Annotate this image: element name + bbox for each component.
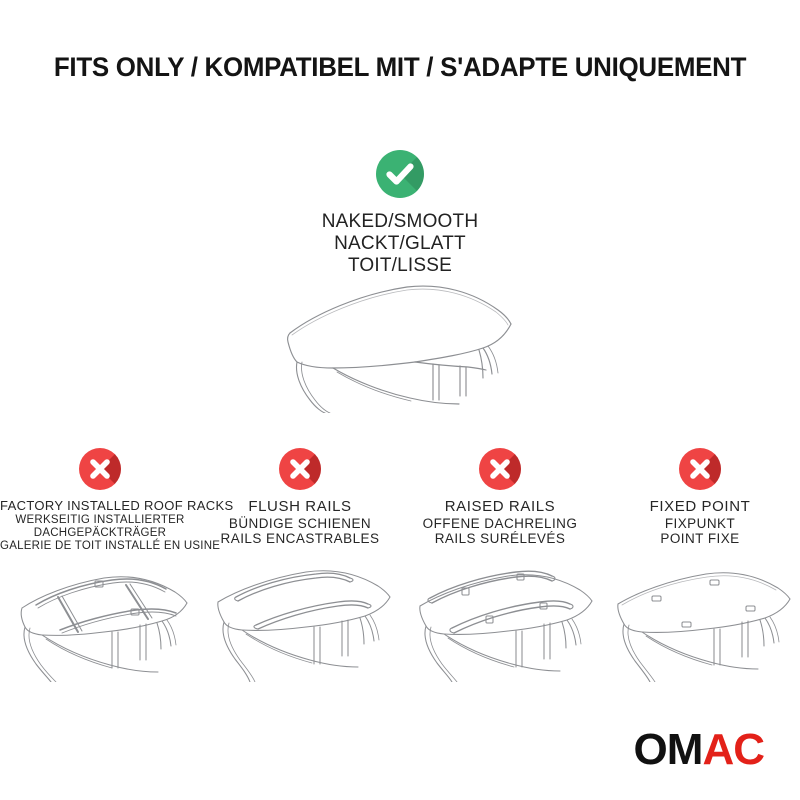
car-roof-naked-smooth-illustration	[255, 278, 555, 413]
label-de-1: WERKSEITIG INSTALLIERTER	[0, 514, 200, 527]
not-allowed-item-fixed-point: FIXED POINT FIXPUNKT POINT FIXE	[600, 448, 800, 553]
label-fr: POINT FIXE	[600, 531, 800, 546]
header: FITS ONLY / KOMPATIBEL MIT / S'ADAPTE UN…	[0, 52, 800, 83]
item-labels: FLUSH RAILS BÜNDIGE SCHIENEN RAILS ENCAS…	[200, 499, 400, 546]
label-en: FACTORY INSTALLED ROOF RACKS	[0, 499, 200, 514]
not-allowed-illustrations	[0, 552, 800, 682]
cross-circle-icon	[279, 448, 321, 490]
label-en: FLUSH RAILS	[200, 499, 400, 516]
car-roof-fixed-point-illustration	[600, 552, 800, 682]
item-labels: RAISED RAILS OFFENE DACHRELING RAILS SUR…	[400, 499, 600, 546]
label-de-2: DACHGEPÄCKTRÄGER	[0, 527, 200, 540]
allowed-label-fr: TOIT/LISSE	[250, 255, 550, 277]
car-roof-factory-rack-illustration	[0, 552, 200, 682]
logo-text-dark: OM	[634, 725, 703, 774]
label-de: BÜNDIGE SCHIENEN	[200, 516, 400, 531]
item-labels: FIXED POINT FIXPUNKT POINT FIXE	[600, 499, 800, 546]
check-circle-icon	[376, 150, 424, 198]
label-en: RAISED RAILS	[400, 499, 600, 516]
not-allowed-item-raised-rails: RAISED RAILS OFFENE DACHRELING RAILS SUR…	[400, 448, 600, 553]
label-en: FIXED POINT	[600, 499, 800, 516]
allowed-roof-labels: NAKED/SMOOTH NACKT/GLATT TOIT/LISSE	[250, 211, 550, 277]
not-allowed-item-flush-rails: FLUSH RAILS BÜNDIGE SCHIENEN RAILS ENCAS…	[200, 448, 400, 553]
item-labels: FACTORY INSTALLED ROOF RACKS WERKSEITIG …	[0, 499, 200, 553]
allowed-roof-type: NAKED/SMOOTH NACKT/GLATT TOIT/LISSE	[250, 150, 550, 277]
label-fr: RAILS SURÉLEVÉS	[400, 531, 600, 546]
car-roof-flush-rails-illustration	[200, 552, 400, 682]
label-fr: RAILS ENCASTRABLES	[200, 531, 400, 546]
cross-circle-icon	[479, 448, 521, 490]
cross-circle-icon	[79, 448, 121, 490]
cross-circle-icon	[679, 448, 721, 490]
not-allowed-row: FACTORY INSTALLED ROOF RACKS WERKSEITIG …	[0, 448, 800, 553]
label-de: FIXPUNKT	[600, 516, 800, 531]
logo-text-red: AC	[702, 725, 764, 774]
allowed-label-en: NAKED/SMOOTH	[250, 211, 550, 233]
page-title: FITS ONLY / KOMPATIBEL MIT / S'ADAPTE UN…	[16, 52, 784, 83]
allowed-label-de: NACKT/GLATT	[250, 233, 550, 255]
label-fr: GALERIE DE TOIT INSTALLÉ EN USINE	[0, 540, 200, 553]
not-allowed-item-factory-installed-roof-racks: FACTORY INSTALLED ROOF RACKS WERKSEITIG …	[0, 448, 200, 553]
omac-logo: OMAC	[634, 728, 764, 772]
car-roof-raised-rails-illustration	[400, 552, 600, 682]
label-de: OFFENE DACHRELING	[400, 516, 600, 531]
